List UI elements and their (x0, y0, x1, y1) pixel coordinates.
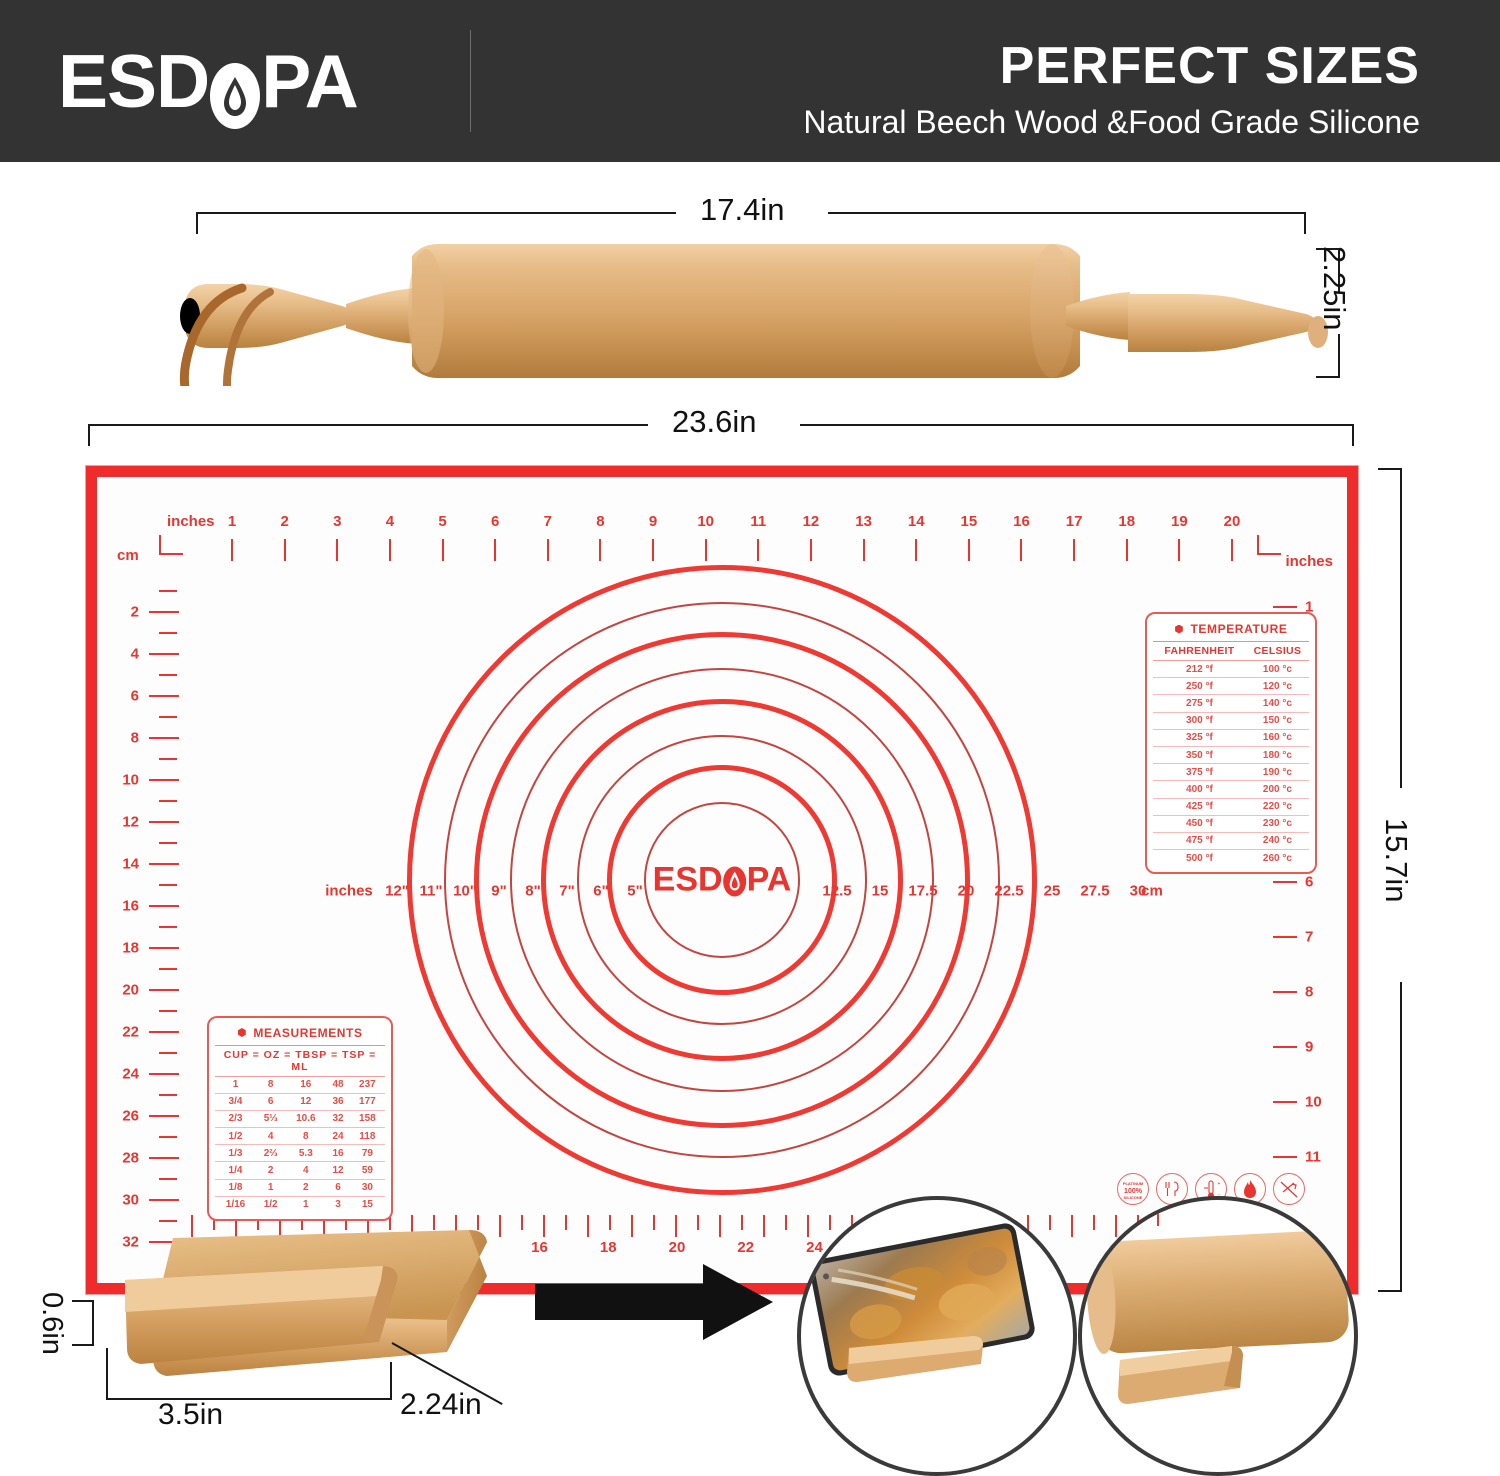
phone-in-stand-illustration (801, 1200, 1073, 1472)
measurements-table-body: 1816482373/4612361772/35⅓10.6321581/2482… (215, 1076, 385, 1213)
temperature-cell: 212 °f (1153, 661, 1246, 678)
dim-cap-bottom (1316, 376, 1340, 378)
ruler-top-number: 6 (491, 513, 499, 530)
ruler-right-tick (1273, 936, 1297, 938)
measurements-cell: 237 (350, 1076, 385, 1093)
silicone-baking-mat: inches cm inches 12345678910111213141516… (86, 466, 1358, 1294)
ruler-bottom-tick (653, 1215, 655, 1230)
ruler-left-number: 14 (105, 856, 139, 873)
mat-droplet-icon (723, 863, 747, 897)
ruler-top-tick (705, 539, 707, 561)
mat-logo-pa: PA (747, 861, 792, 900)
measurements-cell: 177 (350, 1093, 385, 1110)
measurements-cell: 118 (350, 1128, 385, 1145)
ruler-top-tick (1020, 539, 1022, 561)
ruler-top-number: 10 (697, 513, 714, 530)
ruler-top-tick (494, 539, 496, 561)
measurements-cell: 1 (256, 1179, 285, 1196)
measurements-cell: 158 (350, 1110, 385, 1127)
ruler-bottom-tick (1115, 1215, 1117, 1237)
temperature-cell: 475 °f (1153, 832, 1246, 849)
ruler-top-number: 1 (228, 513, 236, 530)
ruler-top-tick (1126, 539, 1128, 561)
temperature-cell: 300 °f (1153, 712, 1246, 729)
temperature-cell: 220 °c (1246, 798, 1309, 815)
ruler-left-minor-tick (159, 1010, 177, 1012)
ruler-left-number: 26 (105, 1108, 139, 1125)
temperature-cell: 180 °c (1246, 746, 1309, 763)
inset-photo-phone-in-stand (797, 1196, 1077, 1476)
measurements-cell: 1/4 (215, 1162, 256, 1179)
standh-cap-top (72, 1300, 94, 1302)
mat-surface: inches cm inches 12345678910111213141516… (97, 477, 1347, 1283)
measurements-cell: 3 (326, 1196, 349, 1213)
stand-height-label: 0.6in (35, 1292, 68, 1355)
ruler-left-tick (149, 695, 179, 697)
temperature-column-header: CELSIUS (1246, 642, 1309, 661)
ruler-left-tick (149, 1031, 179, 1033)
temperature-row: 300 °f150 °c (1153, 712, 1309, 729)
ruler-left-tick (149, 653, 179, 655)
temperature-cell: 140 °c (1246, 695, 1309, 712)
measurements-cell: 10.6 (285, 1110, 326, 1127)
measurements-cell: 1/3 (215, 1145, 256, 1162)
measurements-cell: 36 (326, 1093, 349, 1110)
ruler-left-minor-tick (159, 800, 177, 802)
circle-label-inch: 6" (593, 883, 608, 900)
ruler-top-tick (1231, 539, 1233, 561)
measurements-cell: 1/16 (215, 1196, 256, 1213)
circle-label-inch: 7" (559, 883, 574, 900)
dim-line-left (196, 212, 676, 214)
measurements-cell: 3/4 (215, 1093, 256, 1110)
ruler-left-minor-tick (159, 968, 177, 970)
ruler-bottom-tick (807, 1215, 809, 1237)
ruler-bottom-number: 16 (531, 1239, 548, 1256)
ruler-top-tick (915, 539, 917, 561)
ruler-left-minor-tick (159, 1136, 177, 1138)
ruler-top-number: 15 (960, 513, 977, 530)
temperature-cell: 230 °c (1246, 815, 1309, 832)
ruler-right-number: 7 (1305, 929, 1313, 946)
ruler-right-number: 9 (1305, 1039, 1313, 1056)
matdim-endcap-left (88, 424, 90, 446)
ruler-top-tick (1178, 539, 1180, 561)
ruler-top-number: 7 (544, 513, 552, 530)
ruler-right-tick (1273, 1101, 1297, 1103)
circle-label-inch: 8" (525, 883, 540, 900)
ruler-top-tick (757, 539, 759, 561)
ruler-top-tick (599, 539, 601, 561)
ruler-bottom-tick (829, 1215, 831, 1230)
measurements-cell: 30 (350, 1179, 385, 1196)
temperature-row: 475 °f240 °c (1153, 832, 1309, 849)
ruler-left-number: 2 (105, 604, 139, 621)
temperature-cell: 425 °f (1153, 798, 1246, 815)
temperature-row: 425 °f220 °c (1153, 798, 1309, 815)
circle-label-cm: 15 (872, 883, 889, 900)
stand-depth-label: 2.24in (400, 1388, 482, 1422)
ruler-left-minor-tick (159, 842, 177, 844)
standh-cap-bottom (72, 1344, 94, 1346)
temperature-column-header: FAHRENHEIT (1153, 642, 1246, 661)
svg-text:+: + (1218, 1181, 1221, 1186)
measurements-cell: 48 (326, 1076, 349, 1093)
header-title: PERFECT SIZES (1000, 36, 1420, 96)
ruler-left-minor-tick (159, 674, 177, 676)
ruler-bottom-tick (675, 1215, 677, 1237)
hexagon-dot-icon (237, 1028, 246, 1037)
svg-text:100%: 100% (1124, 1188, 1143, 1195)
measurements-row: 1/24824118 (215, 1128, 385, 1145)
ruler-left-number: 18 (105, 940, 139, 957)
transition-arrow-icon (535, 1262, 775, 1342)
header-bar: ESD PA PERFECT SIZES Natural Beech Wood … (0, 0, 1500, 162)
measurements-row: 2/35⅓10.632158 (215, 1110, 385, 1127)
header-divider (470, 30, 471, 132)
ruler-left-minor-tick (159, 1052, 177, 1054)
measurements-cell: 5⅓ (256, 1110, 285, 1127)
rolling-pin-length-label: 17.4in (700, 192, 784, 228)
matdim-line-right (800, 424, 1354, 426)
measurements-table-head: CUP = OZ = TBSP = TSP = ML (215, 1046, 385, 1077)
ruler-left-tick (149, 611, 179, 613)
ruler-bottom-tick (741, 1215, 743, 1230)
measurements-cell: 1 (285, 1196, 326, 1213)
brand-logo-pa: PA (261, 39, 358, 123)
matdim-line-left (88, 424, 648, 426)
measurements-cell: 12 (285, 1093, 326, 1110)
svg-text:PLATINUM: PLATINUM (1123, 1181, 1144, 1186)
measurements-cell: 2 (256, 1162, 285, 1179)
measurements-row: 1/32⅔5.31679 (215, 1145, 385, 1162)
temperature-cell: 150 °c (1246, 712, 1309, 729)
temperature-row: 250 °f120 °c (1153, 678, 1309, 695)
measurements-row: 3/461236177 (215, 1093, 385, 1110)
temperature-cell: 500 °f (1153, 850, 1246, 867)
ruler-top-tick (442, 539, 444, 561)
ruler-left-cm: 2468101214161820222426283032 (97, 477, 187, 1283)
ruler-right-tick (1273, 1156, 1297, 1158)
ruler-top: inches cm inches 12345678910111213141516… (97, 477, 1347, 557)
ruler-bottom-number: 20 (669, 1239, 686, 1256)
ruler-top-tick (968, 539, 970, 561)
mathdim-cap-bottom (1378, 1290, 1402, 1292)
matdim-endcap-right (1352, 424, 1354, 446)
temperature-cell: 160 °c (1246, 729, 1309, 746)
ruler-top-tick (231, 539, 233, 561)
inset-photo-rolling-pin-in-stand (1078, 1196, 1358, 1476)
measurements-cell: 1/2 (256, 1196, 285, 1213)
measurements-cell: 79 (350, 1145, 385, 1162)
measurements-card: MEASUREMENTS CUP = OZ = TBSP = TSP = ML … (207, 1016, 393, 1222)
measurements-cell: 8 (285, 1128, 326, 1145)
measurements-row: 181648237 (215, 1076, 385, 1093)
temperature-row: 212 °f100 °c (1153, 661, 1309, 678)
ruler-left-minor-tick (159, 1178, 177, 1180)
measurements-table: CUP = OZ = TBSP = TSP = ML 1816482373/46… (215, 1046, 385, 1214)
ruler-top-number: 20 (1224, 513, 1241, 530)
ruler-left-tick (149, 1199, 179, 1201)
measurements-row: 1/4241259 (215, 1162, 385, 1179)
mat-width-label: 23.6in (672, 404, 756, 440)
ruler-right-number: 6 (1305, 874, 1313, 891)
measurements-cell: 2/3 (215, 1110, 256, 1127)
ruler-left-tick (149, 1073, 179, 1075)
rolling-pin-illustration (150, 236, 1330, 386)
ruler-left-tick (149, 989, 179, 991)
measurements-cell: 2⅔ (256, 1145, 285, 1162)
temperature-cell: 120 °c (1246, 678, 1309, 695)
circle-label-inch: 5" (627, 883, 642, 900)
dim-endcap-left (196, 212, 198, 234)
measurements-cell: 12 (326, 1162, 349, 1179)
ruler-bottom-tick (565, 1215, 567, 1230)
ruler-top-tick (389, 539, 391, 561)
ruler-top-tick (652, 539, 654, 561)
ruler-top-tick (284, 539, 286, 561)
measurements-cell: 4 (285, 1162, 326, 1179)
measurements-cell: 6 (256, 1093, 285, 1110)
ruler-bottom-tick (1093, 1215, 1095, 1230)
ruler-left-number: 6 (105, 688, 139, 705)
ruler-right-tick (1273, 606, 1297, 608)
ruler-right-tick (1273, 881, 1297, 883)
ruler-bottom-tick (1071, 1215, 1073, 1237)
ruler-bottom-number: 22 (737, 1239, 754, 1256)
temperature-cell: 350 °f (1153, 746, 1246, 763)
measurements-cell: 5.3 (285, 1145, 326, 1162)
temperature-row: 375 °f190 °c (1153, 764, 1309, 781)
measurements-cell: 2 (285, 1179, 326, 1196)
ruler-left-number: 24 (105, 1066, 139, 1083)
ruler-top-tick (336, 539, 338, 561)
circle-label-cm: 25 (1044, 883, 1061, 900)
circle-labels-unit-cm: cm (1141, 883, 1163, 900)
rolling-pin-svg (150, 236, 1330, 386)
ruler-left-tick (149, 779, 179, 781)
temperature-row: 450 °f230 °c (1153, 815, 1309, 832)
circle-label-cm: 17.5 (908, 883, 937, 900)
ruler-left-number: 30 (105, 1192, 139, 1209)
mat-brand-logo: ESD PA (653, 861, 792, 900)
mathdim-line-lower (1400, 982, 1402, 1292)
ruler-left-tick (149, 1115, 179, 1117)
ruler-left-number: 12 (105, 814, 139, 831)
dim-line-lower (1338, 334, 1340, 378)
ruler-left-minor-tick (159, 1094, 177, 1096)
mat-height-label: 15.7in (1378, 818, 1414, 902)
ruler-left-number: 10 (105, 772, 139, 789)
measurements-title-text: MEASUREMENTS (253, 1026, 362, 1040)
ruler-top-number: 2 (280, 513, 288, 530)
standl-cap-left (106, 1348, 108, 1400)
ruler-bottom-tick (785, 1215, 787, 1230)
ruler-top-number: 13 (855, 513, 872, 530)
ruler-left-minor-tick (159, 758, 177, 760)
temperature-row: 325 °f160 °c (1153, 729, 1309, 746)
ruler-left-tick (149, 863, 179, 865)
ruler-top-number: 9 (649, 513, 657, 530)
brand-logo-text: ESD PA (58, 44, 358, 125)
concentric-measure-circles: ESD PA (412, 570, 1032, 1190)
no-cutting-icon (1273, 1173, 1305, 1205)
ruler-left-tick (149, 947, 179, 949)
ruler-left-tick (149, 1157, 179, 1159)
ruler-top-number: 4 (386, 513, 394, 530)
measurements-cell: 32 (326, 1110, 349, 1127)
ruler-left-number: 4 (105, 646, 139, 663)
rolling-pin-diameter-label: 2.25in (1316, 246, 1352, 330)
brand-logo: ESD PA (58, 44, 358, 125)
measurements-header-text: CUP = OZ = TBSP = TSP = ML (215, 1046, 385, 1077)
temperature-table-body: 212 °f100 °c250 °f120 °c275 °f140 °c300 … (1153, 661, 1309, 867)
ruler-top-number: 3 (333, 513, 341, 530)
ruler-bottom-tick (609, 1215, 611, 1230)
temperature-table: FAHRENHEITCELSIUS 212 °f100 °c250 °f120 … (1153, 642, 1309, 866)
ruler-top-tick (1073, 539, 1075, 561)
ruler-right-number: 10 (1305, 1094, 1322, 1111)
ruler-top-number: 19 (1171, 513, 1188, 530)
temperature-cell: 325 °f (1153, 729, 1246, 746)
circle-label-inch: 12" (385, 883, 409, 900)
ruler-left-minor-tick (159, 632, 177, 634)
ruler-left-number: 22 (105, 1024, 139, 1041)
measurements-cell: 59 (350, 1162, 385, 1179)
ruler-bottom-tick (587, 1215, 589, 1237)
ruler-right-number: 11 (1305, 1149, 1321, 1166)
ruler-top-tick (547, 539, 549, 561)
ruler-top-tick (863, 539, 865, 561)
circle-label-inch: 10" (453, 883, 477, 900)
measurements-cell: 8 (256, 1076, 285, 1093)
ruler-top-number: 8 (596, 513, 604, 530)
ruler-top-number: 12 (803, 513, 820, 530)
temperature-card-title: TEMPERATURE (1153, 618, 1309, 642)
circle-label-cm: 22.5 (994, 883, 1023, 900)
measurements-row: 1/161/21315 (215, 1196, 385, 1213)
temperature-row: 400 °f200 °c (1153, 781, 1309, 798)
temperature-cell: 240 °c (1246, 832, 1309, 849)
ruler-left-number: 16 (105, 898, 139, 915)
circle-labels-unit-inches: inches (325, 883, 373, 900)
ruler-left-minor-tick (159, 884, 177, 886)
ruler-top-number: 14 (908, 513, 925, 530)
mat-logo-esd: ESD (653, 861, 723, 900)
temperature-row: 275 °f140 °c (1153, 695, 1309, 712)
ruler-bottom-tick (543, 1215, 545, 1237)
ruler-bottom-tick (763, 1215, 765, 1237)
header-subtitle: Natural Beech Wood &Food Grade Silicone (803, 104, 1420, 141)
platinum-silicone-icon: PLATINUM 100% SILICONE (1117, 1173, 1149, 1205)
temperature-title-text: TEMPERATURE (1190, 622, 1287, 636)
measurements-cell: 24 (326, 1128, 349, 1145)
ruler-top-tick (810, 539, 812, 561)
ruler-right-tick (1273, 1046, 1297, 1048)
dim-endcap-right (1304, 212, 1306, 234)
ruler-top-number: 18 (1118, 513, 1135, 530)
ruler-left-number: 8 (105, 730, 139, 747)
ruler-left-tick (149, 821, 179, 823)
ruler-top-number: 17 (1066, 513, 1083, 530)
mathdim-line-upper (1400, 468, 1402, 788)
ruler-right-tick (1273, 991, 1297, 993)
circle-label-cm: 20 (958, 883, 975, 900)
measurements-row: 1/812630 (215, 1179, 385, 1196)
temperature-table-head: FAHRENHEITCELSIUS (1153, 642, 1309, 661)
ruler-left-number: 20 (105, 982, 139, 999)
temperature-cell: 250 °f (1153, 678, 1246, 695)
droplet-icon (209, 50, 261, 125)
standh-line (92, 1300, 94, 1346)
ruler-bottom-tick (697, 1215, 699, 1230)
circle-label-inch: 11" (420, 883, 443, 900)
brand-logo-esd: ESD (58, 39, 209, 123)
ruler-right-inches: 1234567891011 (1257, 477, 1347, 1283)
ruler-left-minor-tick (159, 926, 177, 928)
measurements-cell: 16 (285, 1076, 326, 1093)
measurements-cell: 4 (256, 1128, 285, 1145)
temperature-card: TEMPERATURE FAHRENHEITCELSIUS 212 °f100 … (1145, 612, 1317, 874)
measurements-cell: 6 (326, 1179, 349, 1196)
ruler-top-number: 16 (1013, 513, 1030, 530)
temperature-cell: 190 °c (1246, 764, 1309, 781)
ruler-left-tick (149, 905, 179, 907)
ruler-left-number: 28 (105, 1150, 139, 1167)
svg-text:SILICONE: SILICONE (1124, 1195, 1143, 1200)
measurements-card-title: MEASUREMENTS (215, 1022, 385, 1046)
ruler-bottom-tick (719, 1215, 721, 1237)
ruler-left-tick (149, 737, 179, 739)
temperature-row: 500 °f260 °c (1153, 850, 1309, 867)
rolling-pin-in-stand-illustration (1082, 1200, 1354, 1472)
ruler-bottom-tick (1049, 1215, 1051, 1230)
measurements-cell: 15 (350, 1196, 385, 1213)
mathdim-cap-top (1378, 468, 1402, 470)
temperature-cell: 260 °c (1246, 850, 1309, 867)
temperature-cell: 400 °f (1153, 781, 1246, 798)
ruler-bottom-number: 24 (806, 1239, 823, 1256)
measurements-cell: 16 (326, 1145, 349, 1162)
ruler-top-number: 5 (438, 513, 446, 530)
hexagon-dot-icon (1174, 625, 1183, 634)
circle-label-inch: 9" (491, 883, 506, 900)
temperature-cell: 100 °c (1246, 661, 1309, 678)
stand-length-label: 3.5in (158, 1398, 223, 1432)
circle-label-cm: 27.5 (1080, 883, 1109, 900)
dim-line-right (828, 212, 1306, 214)
temperature-cell: 275 °f (1153, 695, 1246, 712)
ruler-bottom-number: 18 (600, 1239, 617, 1256)
ruler-top-number: 11 (750, 513, 766, 530)
temperature-cell: 200 °c (1246, 781, 1309, 798)
ruler-left-minor-tick (159, 590, 177, 592)
temperature-cell: 450 °f (1153, 815, 1246, 832)
standl-line2 (286, 1398, 392, 1400)
measurements-cell: 1/2 (215, 1128, 256, 1145)
temperature-row: 350 °f180 °c (1153, 746, 1309, 763)
ruler-right-number: 8 (1305, 984, 1313, 1001)
measurements-cell: 1/8 (215, 1179, 256, 1196)
circle-label-cm: 12.5 (822, 883, 851, 900)
ruler-left-minor-tick (159, 716, 177, 718)
standl-cap-right (390, 1362, 392, 1400)
ruler-bottom-tick (631, 1215, 633, 1237)
temperature-cell: 375 °f (1153, 764, 1246, 781)
measurements-cell: 1 (215, 1076, 256, 1093)
